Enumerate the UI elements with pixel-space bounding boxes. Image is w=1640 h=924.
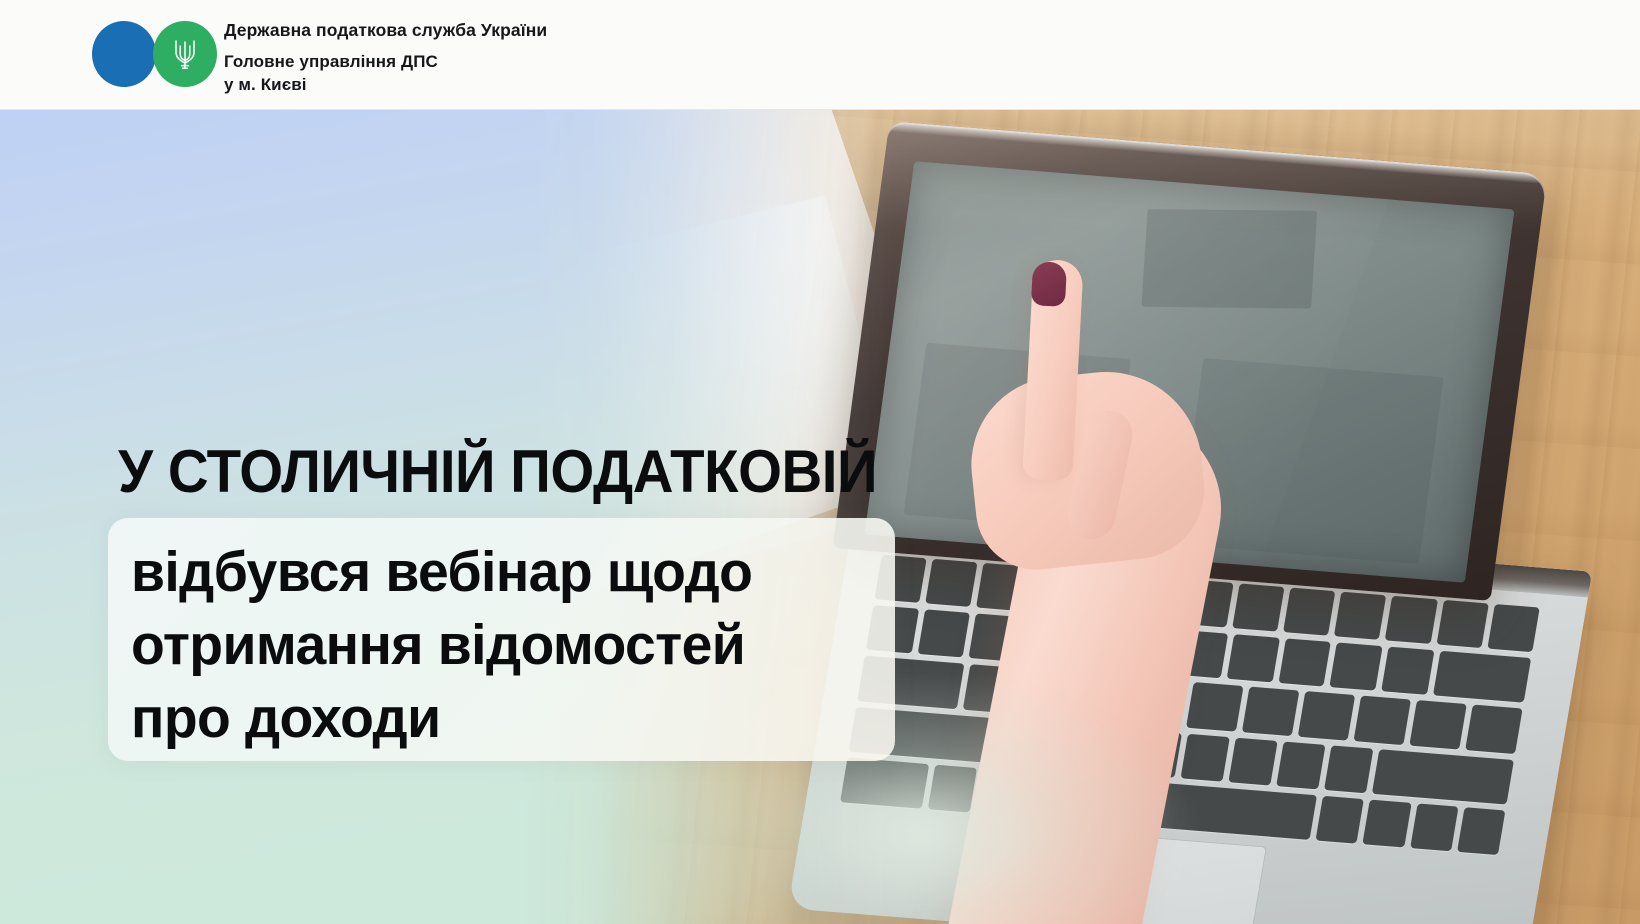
hero-subtitle-line3: про доходи <box>131 682 860 755</box>
key <box>925 559 978 607</box>
hero-subtitle: відбувся вебінар щодо отримання відомост… <box>131 536 860 755</box>
key <box>1436 600 1489 648</box>
key <box>1242 687 1299 736</box>
photo-top-light <box>520 110 1640 230</box>
key <box>1432 651 1531 703</box>
ukraine-trident-emblem-icon <box>172 37 198 71</box>
key <box>1410 803 1459 851</box>
key <box>1226 634 1279 682</box>
organization-subtitle-line1: Головне управління ДПС <box>224 50 547 73</box>
key <box>917 609 970 657</box>
key <box>1276 741 1326 789</box>
key <box>1180 733 1230 781</box>
key <box>1283 588 1336 636</box>
organization-subtitle: Головне управління ДПС у м. Києві <box>224 50 547 97</box>
hero-headline: У СТОЛИЧНІЙ ПОДАТКОВІЙ <box>118 442 877 502</box>
key <box>1385 596 1438 644</box>
key <box>1363 799 1412 847</box>
key <box>1329 643 1382 691</box>
fingernail <box>1031 261 1067 307</box>
header-text-block: Державна податкова служба України Головн… <box>224 14 547 97</box>
hero-section: У СТОЛИЧНІЙ ПОДАТКОВІЙ відбувся вебінар … <box>0 110 1640 924</box>
hero-photo-laptop-hand <box>520 110 1640 924</box>
key <box>1316 796 1365 844</box>
key <box>1457 807 1506 855</box>
organization-subtitle-line2: у м. Києві <box>224 73 547 96</box>
key <box>1278 639 1331 687</box>
hero-subtitle-line1: відбувся вебінар щодо <box>131 536 860 609</box>
key <box>1372 749 1514 805</box>
site-header: Державна податкова служба України Головн… <box>0 0 1640 110</box>
key <box>1186 682 1243 731</box>
key <box>1465 705 1522 754</box>
key <box>1228 737 1278 785</box>
header-branding[interactable]: Державна податкова служба України Головн… <box>88 14 547 97</box>
key <box>1487 604 1540 652</box>
key <box>1334 592 1387 640</box>
key <box>1381 647 1434 695</box>
promo-banner-page: Державна податкова служба України Головн… <box>0 0 1640 924</box>
key <box>1232 583 1285 631</box>
organization-title: Державна податкова служба України <box>224 20 547 42</box>
key <box>1409 700 1466 749</box>
key <box>1324 745 1374 793</box>
green-circle-icon <box>153 21 217 87</box>
blue-circle-icon <box>92 21 156 87</box>
hero-text-card: відбувся вебінар щодо отримання відомост… <box>108 518 895 761</box>
key <box>1298 691 1355 740</box>
hero-subtitle-line2: отримання відомостей <box>131 609 860 682</box>
key <box>1354 696 1411 745</box>
agency-logo[interactable] <box>88 14 218 92</box>
